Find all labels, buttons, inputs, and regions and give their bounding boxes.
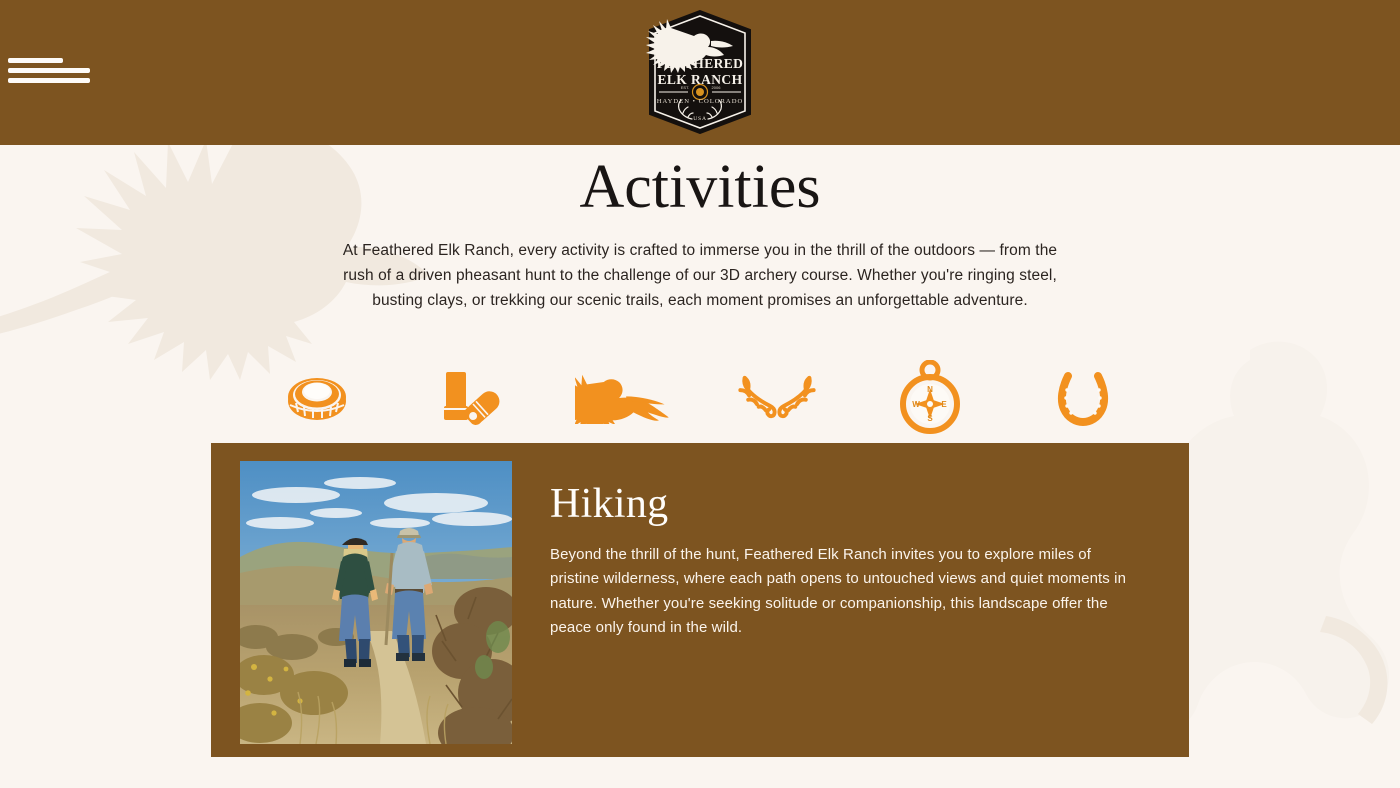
hamburger-line-3	[8, 78, 90, 83]
svg-text:FEATHERED: FEATHERED	[657, 56, 744, 71]
site-header: FEATHERED ELK RANCH EST. 2006 HAYDEN • C…	[0, 0, 1400, 145]
activity-tab-horseshoe[interactable]	[1035, 358, 1131, 438]
activity-tab-pheasant[interactable]	[575, 358, 671, 438]
activity-icon-nav: N S W E	[211, 352, 1189, 444]
clay-target-icon	[286, 373, 348, 423]
activity-detail-panel: Hiking Beyond the thrill of the hunt, Fe…	[211, 443, 1189, 757]
hiking-photo-illustration	[240, 461, 512, 744]
page-header-block: Activities At Feathered Elk Ranch, every…	[0, 155, 1400, 313]
pheasant-icon	[575, 372, 671, 424]
activity-detail-body: Hiking Beyond the thrill of the hunt, Fe…	[512, 443, 1189, 757]
horseshoe-icon	[1055, 370, 1111, 426]
activity-photo	[240, 461, 512, 744]
shotgun-shells-icon	[438, 368, 502, 428]
activity-detail-text: Beyond the thrill of the hunt, Feathered…	[550, 543, 1131, 640]
activity-tab-shells[interactable]	[422, 358, 518, 438]
activity-detail-title: Hiking	[550, 481, 1131, 527]
svg-text:W: W	[912, 400, 920, 409]
page-intro-text: At Feathered Elk Ranch, every activity i…	[330, 238, 1070, 313]
activity-tab-hiking[interactable]: N S W E	[882, 358, 978, 438]
page-title: Activities	[0, 155, 1400, 220]
svg-text:USA: USA	[693, 116, 707, 122]
antlers-icon	[729, 371, 825, 425]
svg-text:N: N	[927, 385, 933, 394]
svg-text:2006: 2006	[712, 85, 722, 90]
svg-text:EST.: EST.	[681, 85, 689, 90]
svg-text:E: E	[941, 400, 947, 409]
hamburger-line-1	[8, 58, 63, 63]
activity-tab-clays[interactable]	[269, 358, 365, 438]
hamburger-line-2	[8, 68, 90, 73]
menu-button[interactable]	[8, 58, 90, 84]
activity-tab-antlers[interactable]	[729, 358, 825, 438]
svg-text:HAYDEN • COLORADO: HAYDEN • COLORADO	[657, 98, 743, 105]
feathered-elk-ranch-logo-icon: FEATHERED ELK RANCH EST. 2006 HAYDEN • C…	[645, 10, 755, 134]
site-logo[interactable]: FEATHERED ELK RANCH EST. 2006 HAYDEN • C…	[645, 10, 755, 134]
svg-text:S: S	[927, 414, 933, 423]
compass-icon: N S W E	[899, 360, 961, 436]
